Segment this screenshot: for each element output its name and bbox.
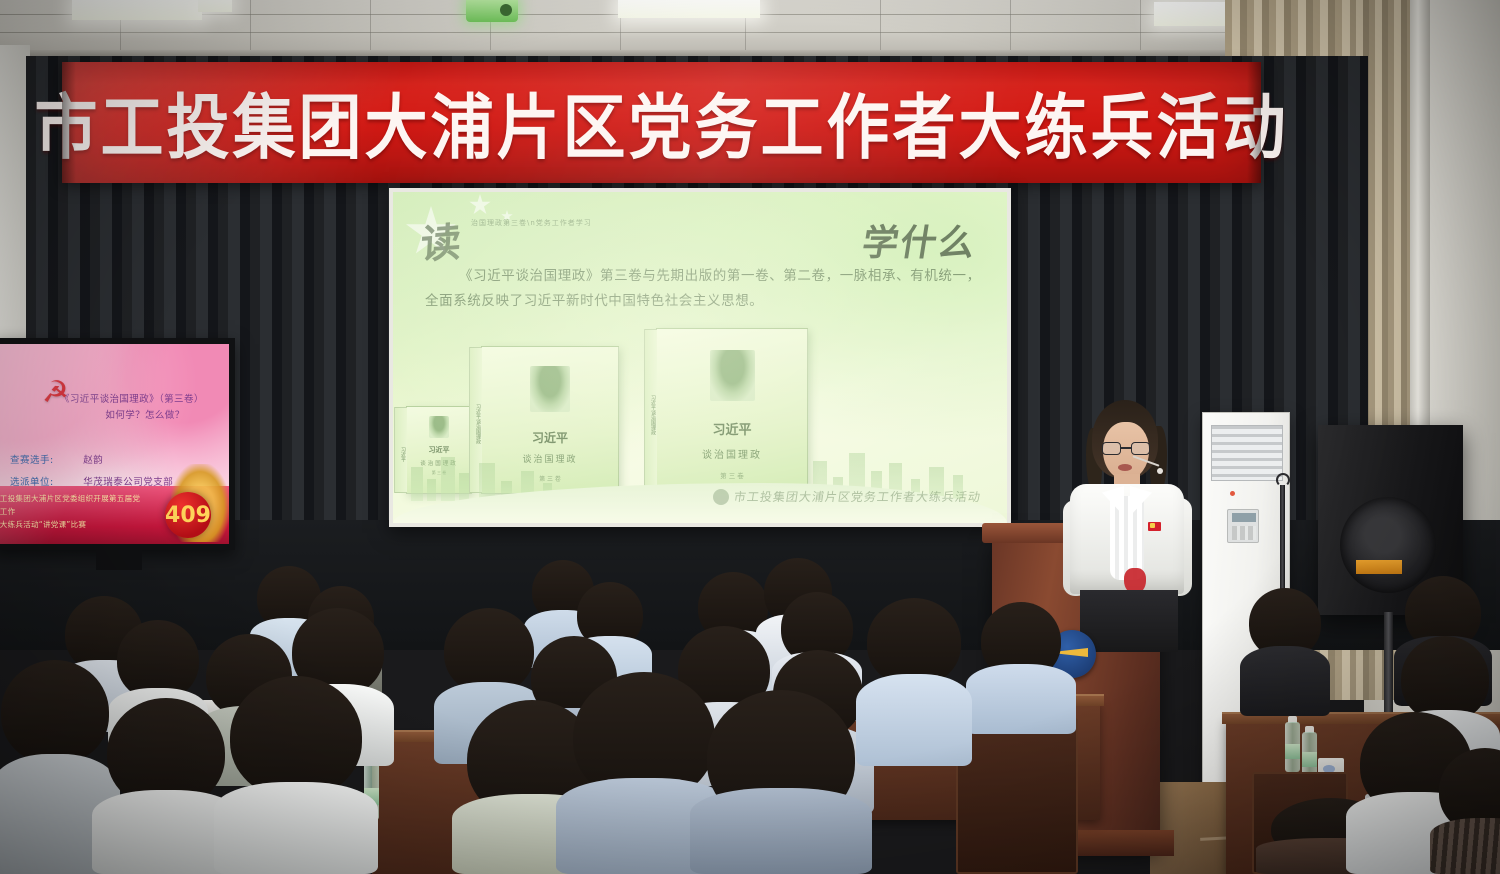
ceiling-light-panel xyxy=(618,0,760,18)
footer-line2: 者大练兵活动“讲党课”比赛 xyxy=(0,518,142,531)
water-bottle xyxy=(1302,726,1317,774)
slide-section-subtitle: 治国理政第三卷\n党务工作者学习 xyxy=(471,218,592,228)
slide-content: 读 治国理政第三卷\n党务工作者学习 学什么 《习近平谈治国理政》第三卷与先期出… xyxy=(393,192,1007,523)
audience-member xyxy=(966,602,1076,734)
star-icon xyxy=(469,194,491,216)
footer-line1: 市工投集团大浦片区党委组织开展第五届党务工作 xyxy=(0,492,142,518)
presenter xyxy=(1062,400,1192,650)
audience-member xyxy=(214,676,378,874)
monitor-footer-strip: 市工投集团大浦片区党委组织开展第五届党务工作 者大练兵活动“讲党课”比赛 409 xyxy=(0,486,229,544)
contestant-number-badge: 409 xyxy=(165,492,211,538)
event-banner: 市工投集团大浦片区党务工作者大练兵活动 xyxy=(62,62,1261,183)
book-portrait xyxy=(429,416,448,438)
ceiling-light-panel xyxy=(198,0,232,12)
ac-display xyxy=(1232,513,1256,522)
book-portrait xyxy=(530,366,571,412)
ac-control-panel[interactable] xyxy=(1227,509,1259,543)
headset-mic-tip xyxy=(1157,468,1163,474)
conference-room-photo: 市工投集团大浦片区党务工作者大练兵活动 读 治国理政第三卷\n党务工作者学习 学… xyxy=(0,0,1500,874)
monitor-footer-text: 市工投集团大浦片区党委组织开展第五届党务工作 者大练兵活动“讲党课”比赛 xyxy=(0,492,142,531)
projection-screen: 读 治国理政第三卷\n党务工作者学习 学什么 《习近平谈治国理政》第三卷与先期出… xyxy=(389,188,1011,527)
slide-body-text: 《习近平谈治国理政》第三卷与先期出版的第一卷、第二卷，一脉相承、有机统一，全面系… xyxy=(425,264,981,314)
book-portrait xyxy=(710,350,755,401)
presenter-mouth xyxy=(1118,464,1132,471)
book-author: 习近平 xyxy=(712,419,751,438)
row-value: 赵韵 xyxy=(83,455,103,466)
ac-buttons[interactable] xyxy=(1232,526,1256,540)
side-monitor: ☭ 《习近平谈治国理政》（第三卷） 如何学？怎么做？ 查赛选手: 赵韵 选派单位… xyxy=(0,338,235,550)
monitor-title-line2: 如何学？怎么做？ xyxy=(60,408,229,424)
audience-member xyxy=(856,598,972,766)
presenter-skirt xyxy=(1080,590,1178,652)
audience-chair xyxy=(956,718,1078,874)
monitor-row-contestant: 查赛选手: 赵韵 xyxy=(10,452,103,466)
side-monitor-screen: ☭ 《习近平谈治国理政》（第三卷） 如何学？怎么做？ 查赛选手: 赵韵 选派单位… xyxy=(0,344,229,544)
speaker-brand-tag xyxy=(1356,560,1402,574)
slide-topic-label: 学什么 xyxy=(859,214,981,266)
banner-edge-right xyxy=(1247,62,1261,183)
slide-section-label: 读 xyxy=(419,210,462,271)
monitor-stand xyxy=(96,550,142,570)
glasses-icon xyxy=(1102,442,1150,455)
watermark-text: 市工投集团大浦片区党务工作者大练兵活动 xyxy=(733,488,982,505)
ac-power-led-icon xyxy=(1230,491,1235,496)
banner-edge-left xyxy=(62,62,76,183)
banner-title: 市工投集团大浦片区党务工作者大练兵活动 xyxy=(35,72,1289,174)
watermark-logo-icon xyxy=(713,489,729,505)
slide-watermark: 市工投集团大浦片区党务工作者大练兵活动 xyxy=(713,488,981,505)
ceiling-light-panel xyxy=(72,0,202,20)
projector-icon xyxy=(466,0,518,22)
audience-member xyxy=(690,690,872,874)
monitor-title-line1: 《习近平谈治国理政》（第三卷） xyxy=(60,394,204,405)
water-bottle xyxy=(1285,716,1300,766)
audience-member xyxy=(1240,588,1330,716)
monitor-title: 《习近平谈治国理政》（第三卷） 如何学？怎么做？ xyxy=(60,392,229,424)
row-label: 查赛选手: xyxy=(10,455,54,466)
party-badge-icon xyxy=(1148,522,1161,531)
audience-member xyxy=(1430,748,1500,874)
